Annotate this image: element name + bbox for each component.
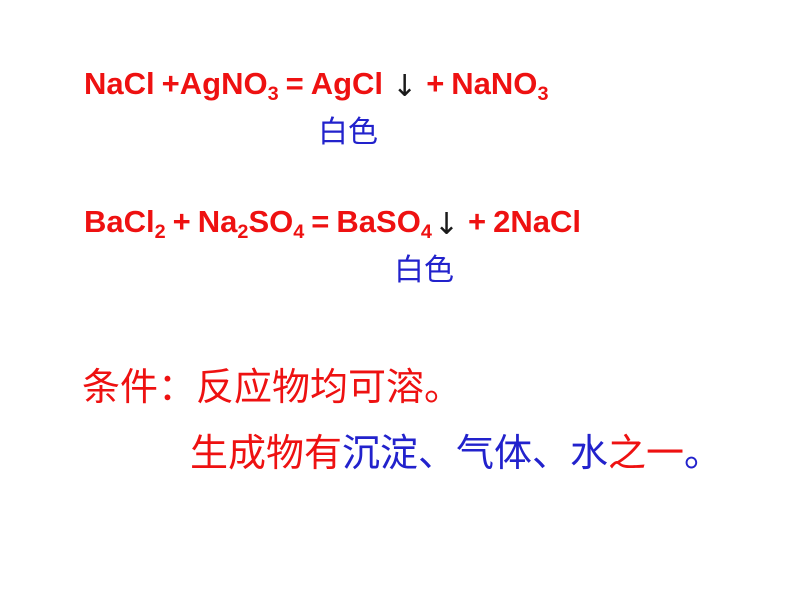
eq2-product-b: 2NaCl <box>493 204 581 239</box>
precipitate-arrow-icon: ↓ <box>390 69 419 104</box>
conclusion-line-2: 生成物有沉淀、气体、水之一。 <box>190 434 722 472</box>
annotation-white-precipitate-1: 白色 <box>318 118 378 148</box>
eq1-plus-2: + <box>426 66 444 101</box>
eq2-reactant-a: BaCl <box>84 204 155 239</box>
eq1-reactant-b: AgNO <box>180 66 268 101</box>
conclusion-products-oneof: 之一 <box>608 431 684 475</box>
eq2-product-a-subscript: 4 <box>421 221 432 243</box>
eq1-product-b-subscript: 3 <box>537 83 548 105</box>
eq2-equals: = <box>311 204 329 239</box>
eq2-reactant-b-2: SO <box>248 204 293 239</box>
eq2-reactant-a-subscript: 2 <box>155 221 166 243</box>
conclusion-line-1: 条件：反应物均可溶。 <box>82 368 462 406</box>
eq2-reactant-b-subscript-2: 4 <box>293 221 304 243</box>
eq1-product-b: NaNO <box>451 66 537 101</box>
annotation-white-precipitate-2: 白色 <box>394 256 454 286</box>
eq1-product-a: AgCl <box>311 66 383 101</box>
eq1-equals: = <box>286 66 304 101</box>
eq2-plus-2: + <box>468 204 486 239</box>
conclusion-products-period: 。 <box>684 431 722 475</box>
slide-canvas: NaCl+AgNO3=AgCl↓+NaNO3 白色 BaCl2+Na2SO4=B… <box>0 0 800 600</box>
eq2-reactant-b-subscript-1: 2 <box>237 221 248 243</box>
precipitate-arrow-icon: ↓ <box>432 207 461 242</box>
eq2-reactant-b-1: Na <box>198 204 238 239</box>
eq1-plus-1: + <box>162 66 180 101</box>
conclusion-label: 条件： <box>82 365 196 409</box>
eq1-reactant-b-subscript: 3 <box>268 83 279 105</box>
eq1-reactant-a: NaCl <box>84 66 155 101</box>
conclusion-products-list: 沉淀、气体、水 <box>342 431 608 475</box>
chemical-equation-2: BaCl2+Na2SO4=BaSO4↓+2NaCl <box>84 206 581 238</box>
conclusion-products-prefix: 生成物有 <box>190 431 342 475</box>
eq2-product-a: BaSO <box>336 204 420 239</box>
conclusion-body: 反应物均可溶。 <box>196 365 462 409</box>
chemical-equation-1: NaCl+AgNO3=AgCl↓+NaNO3 <box>84 68 548 100</box>
eq2-plus-1: + <box>173 204 191 239</box>
